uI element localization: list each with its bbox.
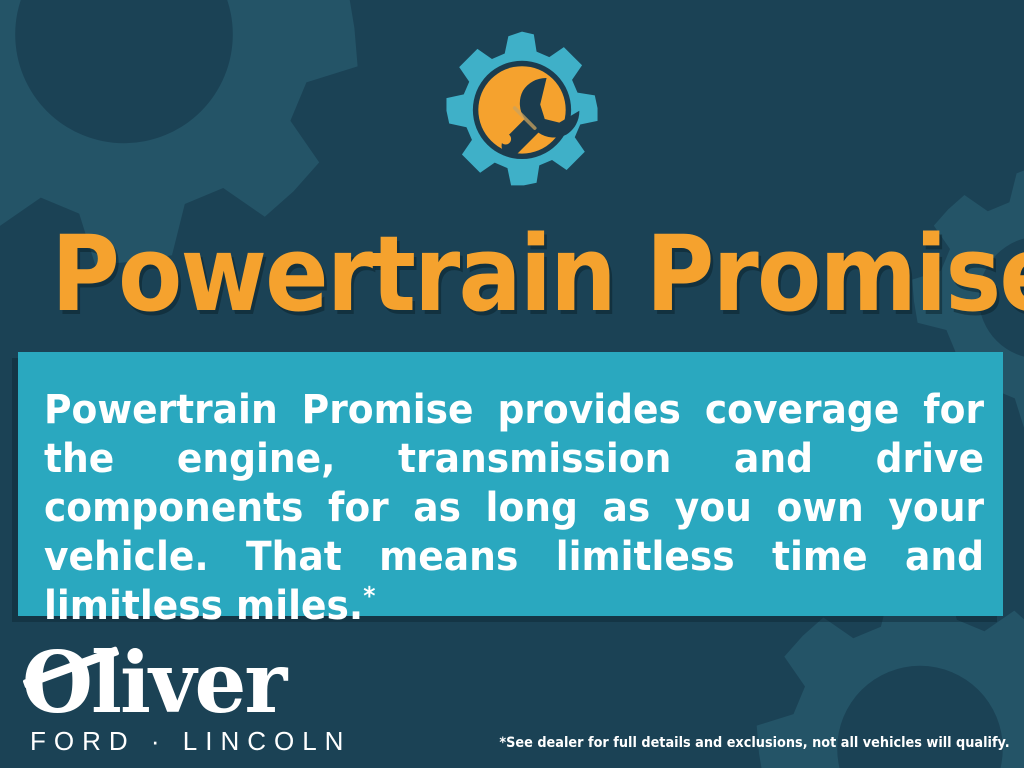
dealer-logo: Oliver FORD · LINCOLN [22, 640, 332, 760]
background-gear-top-left-icon [0, 0, 444, 412]
disclaimer-text: *See dealer for full details and exclusi… [500, 734, 1010, 752]
logo-subtitle: FORD · LINCOLN [30, 726, 351, 756]
gear-wrench-icon [431, 28, 613, 210]
page-title: Powertrain Promise [51, 222, 973, 326]
powertrain-promise-poster: Powertrain Promise Powertrain Promise pr… [0, 0, 1024, 768]
callout-body-text: Powertrain Promise provides coverage for… [44, 386, 984, 631]
callout-panel: Powertrain Promise provides coverage for… [18, 352, 1003, 616]
footnote-marker: * [363, 582, 375, 611]
logo-wordmark: Oliver [22, 640, 323, 726]
callout-body-sentence: Powertrain Promise provides coverage for… [44, 387, 984, 629]
